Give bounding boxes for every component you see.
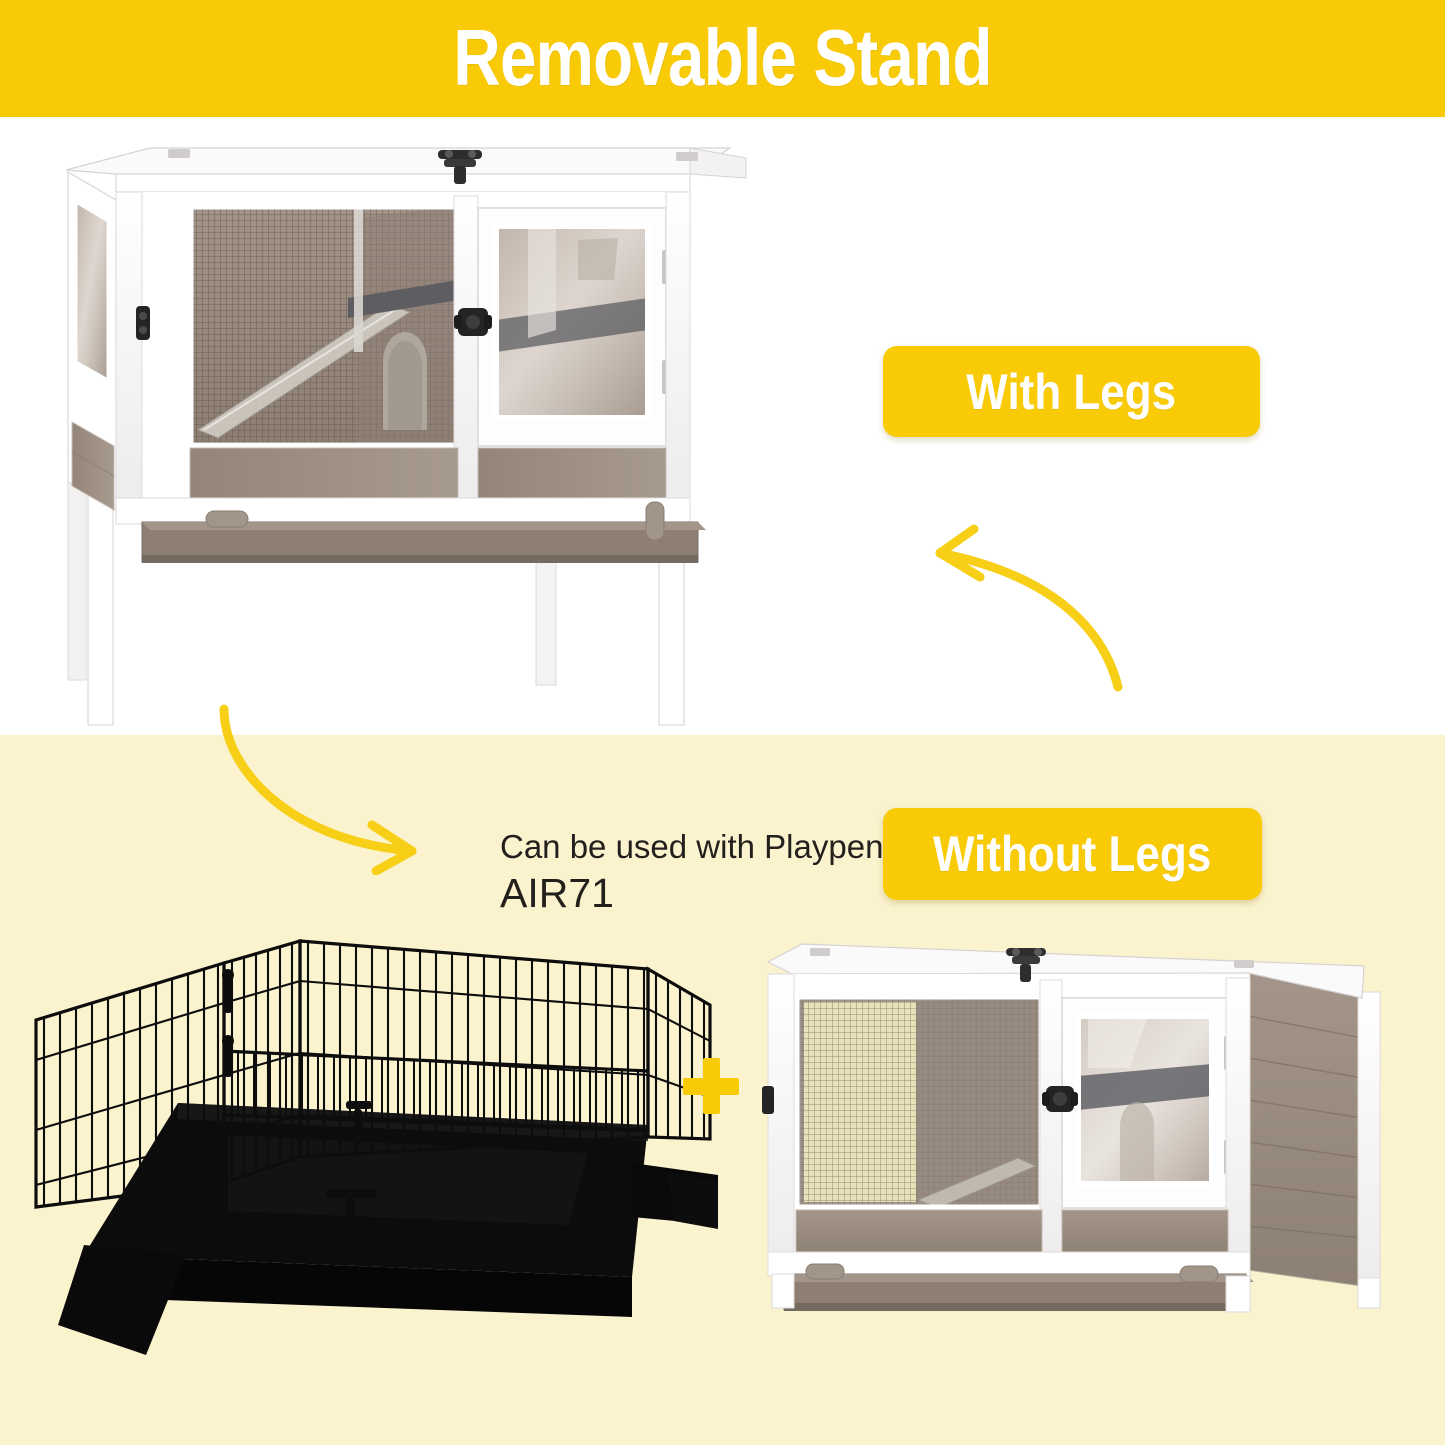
page-title: Removable Stand — [130, 14, 1315, 102]
side-hinge-icon — [136, 306, 150, 340]
playpen-caption: Can be used with Playpen AIR71 — [500, 826, 900, 918]
hutch-acrylic-door — [478, 208, 669, 446]
door-latch-icon — [1042, 1086, 1078, 1112]
hutch-roof — [66, 148, 746, 192]
hutch-right-side-panel — [1248, 973, 1380, 1292]
product-image-hutch-without-legs — [748, 918, 1438, 1328]
badge-with-legs: With Legs — [883, 346, 1260, 437]
arrow-to-playpen-icon — [200, 695, 450, 875]
arrow-to-with-legs-icon — [900, 515, 1140, 700]
playpen-caption-line2: AIR71 — [500, 868, 900, 918]
badge-without-legs: Without Legs — [883, 808, 1262, 900]
plus-icon — [683, 1058, 739, 1114]
hutch-body — [762, 948, 1250, 1278]
badge-without-legs-label: Without Legs — [933, 829, 1211, 879]
product-image-hutch-with-legs — [58, 130, 758, 730]
hutch-acrylic-door — [1062, 998, 1231, 1208]
side-hinge-icon — [762, 1086, 774, 1114]
hutch-left-side-panel — [68, 172, 116, 510]
hutch-body — [116, 150, 690, 524]
product-image-playpen — [28, 925, 718, 1355]
playpen-caption-line1: Can be used with Playpen — [500, 826, 900, 868]
badge-with-legs-label: With Legs — [967, 367, 1177, 417]
infographic-canvas: Removable Stand — [0, 0, 1445, 1445]
door-latch-icon — [454, 308, 492, 336]
